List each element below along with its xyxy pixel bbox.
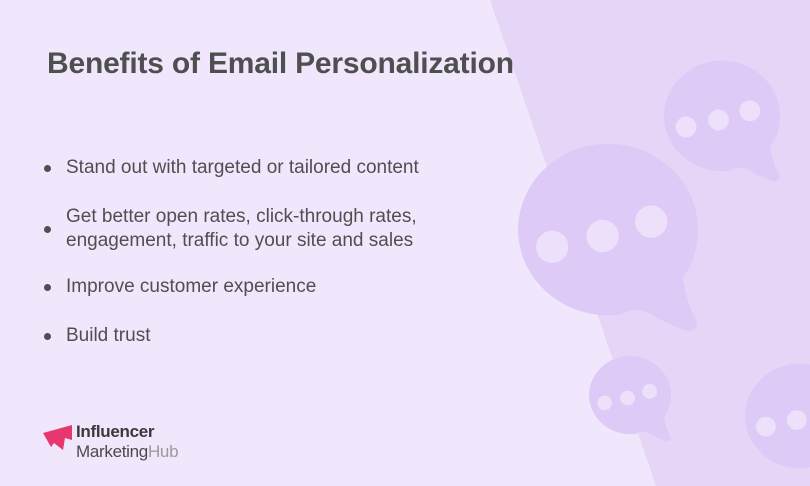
list-item-label-line1: Get better open rates, click-through rat… [66, 206, 417, 227]
logo-hub-text: Hub [148, 442, 178, 461]
logo-marketing-text: Marketing [76, 442, 148, 461]
benefits-list: Stand out with targeted or tailored cont… [40, 156, 510, 373]
logo-line-marketinghub: MarketingHub [76, 443, 178, 460]
slide-title: Benefits of Email Personalization [47, 45, 514, 83]
list-item-label: Stand out with targeted or tailored cont… [66, 156, 510, 180]
logo-line-influencer: Influencer [76, 423, 178, 440]
list-item-label: Improve customer experience [66, 275, 510, 299]
list-item: Improve customer experience [40, 275, 510, 299]
list-item-label: Get better open rates, click-through rat… [66, 205, 510, 253]
bullet-dot-icon [44, 165, 51, 172]
arrow-mark-icon [42, 421, 78, 461]
bullet-dot-icon [44, 226, 51, 233]
list-item-label: Build trust [66, 324, 510, 348]
influencer-marketing-hub-logo: Influencer MarketingHub [42, 421, 178, 461]
bullet-dot-icon [44, 333, 51, 340]
slide-canvas: Benefits of Email Personalization Stand … [0, 0, 810, 486]
bullet-dot-icon [44, 284, 51, 291]
list-item: Get better open rates, click-through rat… [40, 205, 510, 253]
list-item-label-line2: engagement, traffic to your site and sal… [66, 229, 510, 253]
list-item: Build trust [40, 324, 510, 348]
slide-content: Benefits of Email Personalization Stand … [0, 0, 810, 486]
logo-wordmark: Influencer MarketingHub [76, 423, 178, 460]
list-item: Stand out with targeted or tailored cont… [40, 156, 510, 180]
